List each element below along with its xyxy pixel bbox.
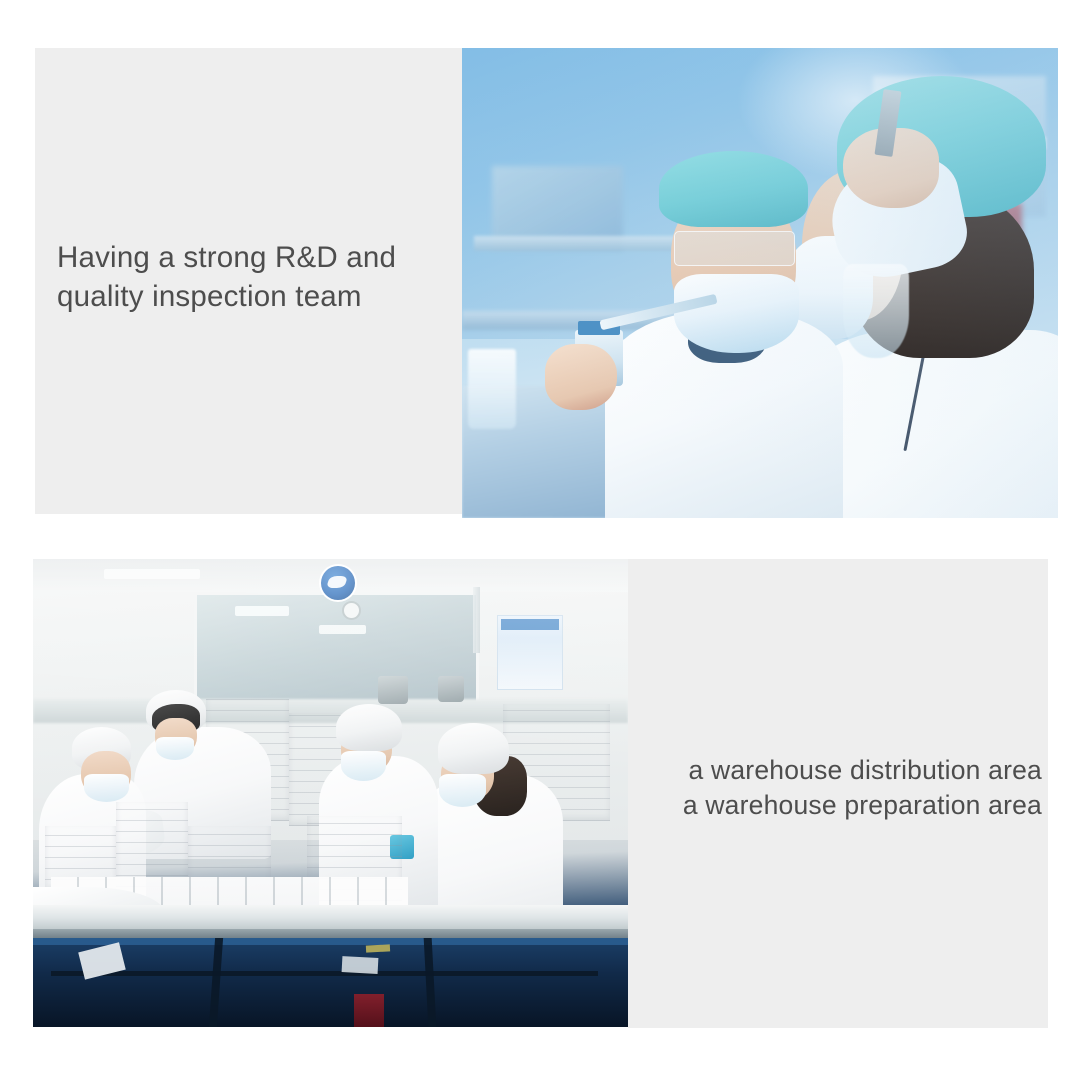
warehouse-packing-photo — [33, 559, 628, 1027]
photo-light-overlay — [33, 559, 628, 1027]
bottom-caption-line-2: a warehouse preparation area — [640, 788, 1042, 823]
top-caption-line-2: quality inspection team — [57, 277, 447, 316]
top-caption: Having a strong R&D and quality inspecti… — [57, 238, 447, 316]
lab-inspection-photo — [462, 48, 1058, 518]
bottom-caption: a warehouse distribution area a warehous… — [640, 753, 1042, 823]
bottom-caption-line-1: a warehouse distribution area — [640, 753, 1042, 788]
top-caption-line-1: Having a strong R&D and — [57, 238, 447, 277]
photo-blue-tint-overlay — [462, 48, 1058, 518]
